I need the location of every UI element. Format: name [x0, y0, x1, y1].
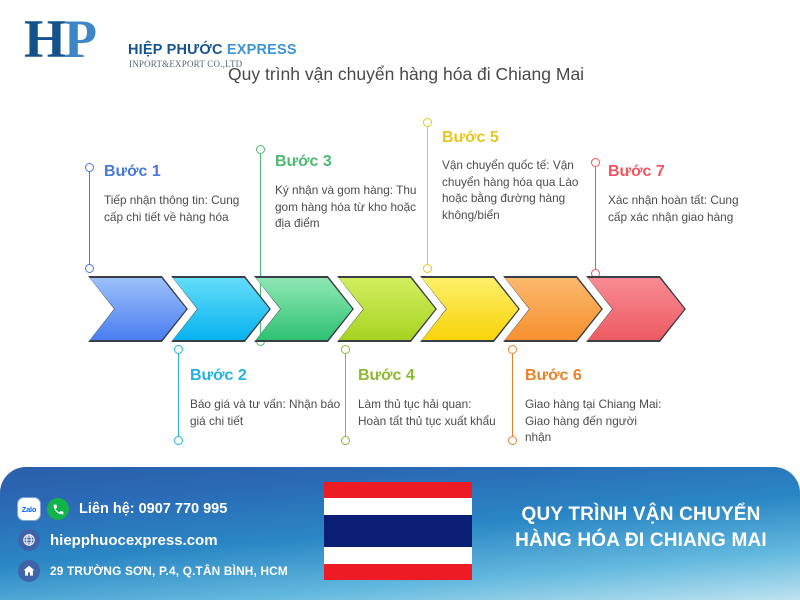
- home-glyph: [22, 564, 36, 578]
- connector-line: [512, 349, 513, 441]
- flag-stripe-blue: [324, 515, 472, 548]
- contact-address-row[interactable]: 29 TRƯỜNG SƠN, P.4, Q.TÂN BÌNH, HCM: [18, 560, 288, 582]
- step-card-4[interactable]: Bước 4 Làm thủ tục hải quan: Hoàn tất th…: [358, 366, 498, 429]
- flag-stripe-white-bot: [324, 547, 472, 563]
- zalo-icon-label: Zalo: [22, 505, 37, 514]
- step-description: Giao hàng tại Chiang Mai: Giao hàng đến …: [525, 396, 665, 446]
- connector-step-7: [591, 158, 600, 278]
- footer-banner-line2: HÀNG HÓA ĐI CHIANG MAI: [486, 528, 796, 554]
- connector-dot-bottom: [341, 436, 350, 445]
- step-title: Bước 7: [608, 162, 758, 182]
- zalo-icon[interactable]: Zalo: [18, 498, 40, 520]
- connector-dot-top: [85, 163, 94, 172]
- logo-monogram: HP: [24, 12, 95, 66]
- logo-company-main: HIỆP PHƯỚC: [128, 42, 227, 58]
- logo-letter-p: P: [64, 9, 95, 69]
- step-description: Tiếp nhận thông tin: Cung cấp chi tiết v…: [104, 192, 254, 225]
- contact-website-row[interactable]: hiepphuocexpress.com: [18, 529, 218, 551]
- thailand-flag: [324, 482, 472, 580]
- connector-line: [595, 162, 596, 274]
- step-description: Ký nhận và gom hàng: Thu gom hàng hóa từ…: [275, 182, 420, 232]
- step-card-3[interactable]: Bước 3 Ký nhận và gom hàng: Thu gom hàng…: [275, 152, 420, 232]
- contact-website-text: hiepphuocexpress.com: [50, 532, 218, 549]
- connector-dot-bottom: [85, 264, 94, 273]
- chevron-step-1[interactable]: [88, 276, 188, 342]
- step-description: Làm thủ tục hải quan: Hoàn tất thủ tục x…: [358, 396, 498, 429]
- process-chevron-row: [0, 276, 800, 344]
- footer-banner-title: QUY TRÌNH VẬN CHUYỂN HÀNG HÓA ĐI CHIANG …: [486, 502, 796, 554]
- connector-dot-top: [423, 118, 432, 127]
- contact-address-text: 29 TRƯỜNG SƠN, P.4, Q.TÂN BÌNH, HCM: [50, 564, 288, 578]
- connector-dot-top: [508, 345, 517, 354]
- step-description: Báo giá và tư vấn: Nhận báo giá chi tiết: [190, 396, 350, 429]
- logo-letter-h: H: [24, 9, 64, 69]
- page-header: HP HIỆP PHƯỚC EXPRESS INPORT&EXPORT CO.,…: [0, 0, 800, 100]
- connector-dot-top: [591, 158, 600, 167]
- step-card-1[interactable]: Bước 1 Tiếp nhận thông tin: Cung cấp chi…: [104, 162, 254, 225]
- connector-line: [89, 167, 90, 269]
- company-logo: HP HIỆP PHƯỚC EXPRESS INPORT&EXPORT CO.,…: [24, 12, 254, 74]
- globe-icon[interactable]: [18, 529, 40, 551]
- connector-dot-bottom: [174, 436, 183, 445]
- connector-step-2: [174, 345, 183, 445]
- step-card-2[interactable]: Bước 2 Báo giá và tư vấn: Nhận báo giá c…: [190, 366, 350, 429]
- flag-stripe-white-top: [324, 498, 472, 514]
- step-description: Xác nhận hoàn tất: Cung cấp xác nhận gia…: [608, 192, 758, 225]
- connector-step-6: [508, 345, 517, 445]
- step-title: Bước 1: [104, 162, 254, 182]
- page-title: Quy trình vận chuyển hàng hóa đi Chiang …: [228, 64, 584, 85]
- connector-step-1: [85, 163, 94, 273]
- home-icon[interactable]: [18, 560, 40, 582]
- connector-step-4: [341, 345, 350, 445]
- step-title: Bước 4: [358, 366, 498, 386]
- flag-stripe-red-bot: [324, 564, 472, 580]
- connector-dot-top: [256, 145, 265, 154]
- connector-dot-bottom: [508, 436, 517, 445]
- logo-company-subtitle: INPORT&EXPORT CO.,LTD: [129, 59, 242, 69]
- chevron-fill: [90, 278, 187, 341]
- connector-step-5: [423, 118, 432, 273]
- step-description: Vận chuyển quốc tế: Vận chuyển hàng hóa …: [442, 157, 582, 223]
- phone-icon[interactable]: [47, 498, 69, 520]
- globe-glyph: [22, 533, 36, 547]
- connector-dot-bottom: [423, 264, 432, 273]
- phone-glyph: [52, 503, 65, 516]
- contact-phone-text: Liên hệ: 0907 770 995: [79, 501, 227, 517]
- logo-company-name: HIỆP PHƯỚC EXPRESS: [128, 42, 297, 58]
- contact-phone-row[interactable]: Zalo Liên hệ: 0907 770 995: [18, 498, 227, 520]
- step-card-5[interactable]: Bước 5 Vận chuyển quốc tế: Vận chuyển hà…: [442, 128, 582, 223]
- connector-dot-top: [174, 345, 183, 354]
- connector-line: [427, 122, 428, 269]
- step-title: Bước 6: [525, 366, 665, 386]
- connector-dot-top: [341, 345, 350, 354]
- connector-line: [345, 349, 346, 441]
- step-title: Bước 5: [442, 128, 582, 148]
- logo-company-accent: EXPRESS: [227, 42, 297, 58]
- flag-stripe-red-top: [324, 482, 472, 498]
- step-title: Bước 2: [190, 366, 350, 386]
- step-card-6[interactable]: Bước 6 Giao hàng tại Chiang Mai: Giao hà…: [525, 366, 665, 446]
- footer-banner-line1: QUY TRÌNH VẬN CHUYỂN: [486, 502, 796, 528]
- step-card-7[interactable]: Bước 7 Xác nhận hoàn tất: Cung cấp xác n…: [608, 162, 758, 225]
- step-title: Bước 3: [275, 152, 420, 172]
- connector-line: [178, 349, 179, 441]
